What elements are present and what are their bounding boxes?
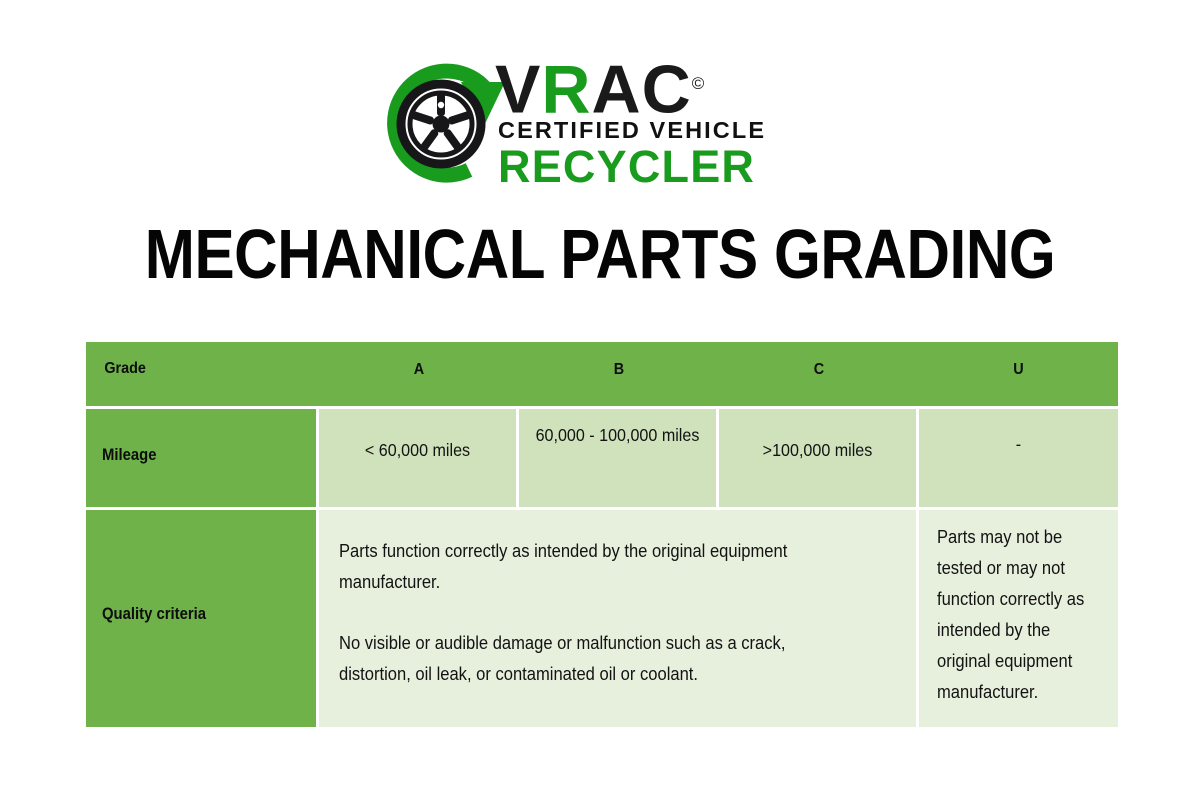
table-header-cell-a: A [319, 342, 519, 406]
table-cell-quality-u: Parts may not be tested or may not funct… [919, 510, 1118, 727]
table-header-label-u: U [929, 361, 1108, 379]
cell-text-mileage-a: < 60,000 miles [327, 435, 508, 465]
row-label-text-mileage: Mileage [102, 446, 309, 465]
mechanical-parts-grading-table: Grade A B C U Mileage < 60,000 miles 60,… [86, 342, 1118, 727]
table-cell-mileage-b: 60,000 - 100,000 miles [519, 409, 716, 507]
brand-logo: VRAC© CERTIFIED VEHICLE RECYCLER [0, 52, 1200, 202]
quality-paragraph-1: Parts function correctly as intended by … [339, 536, 854, 598]
cell-text-mileage-b: 60,000 - 100,000 miles [527, 420, 708, 450]
table-header-cell-grade: Grade [86, 342, 319, 406]
cell-text-mileage-u: - [927, 429, 1110, 459]
table-cell-quality-abc: Parts function correctly as intended by … [319, 510, 916, 727]
quality-paragraph-2: No visible or audible damage or malfunct… [339, 628, 854, 690]
table-row-quality-criteria: Quality criteria Parts function correctl… [86, 510, 1118, 727]
table-row-label-mileage: Mileage [86, 409, 316, 507]
table-header-cell-u: U [919, 342, 1118, 406]
table-row-mileage: Mileage < 60,000 miles 60,000 - 100,000 … [86, 409, 1118, 507]
table-row-label-quality-criteria: Quality criteria [86, 510, 316, 727]
table-header-label-c: C [729, 361, 909, 379]
table-header-label-grade: Grade [104, 360, 146, 378]
copyright-icon: © [692, 74, 705, 93]
table-header-label-b: B [529, 361, 709, 379]
table-cell-mileage-u: - [919, 409, 1118, 507]
row-label-text-quality-criteria: Quality criteria [102, 605, 309, 624]
table-header-row: Grade A B C U [86, 342, 1118, 406]
cell-text-mileage-c: >100,000 miles [727, 435, 908, 465]
logo-recycler-word: RECYCLER [498, 144, 755, 190]
page-title: MECHANICAL PARTS GRADING [84, 212, 1116, 296]
table-cell-mileage-c: >100,000 miles [719, 409, 916, 507]
cell-text-quality-abc: Parts function correctly as intended by … [339, 536, 854, 690]
logo-tagline: CERTIFIED VEHICLE [498, 118, 766, 142]
table-header-label-a: A [329, 361, 509, 379]
logo-wordmark: VRAC© [495, 50, 704, 124]
cell-text-quality-u: Parts may not be tested or may not funct… [937, 522, 1103, 708]
table-header-cell-c: C [719, 342, 919, 406]
table-header-cell-b: B [519, 342, 719, 406]
table-cell-mileage-a: < 60,000 miles [319, 409, 516, 507]
